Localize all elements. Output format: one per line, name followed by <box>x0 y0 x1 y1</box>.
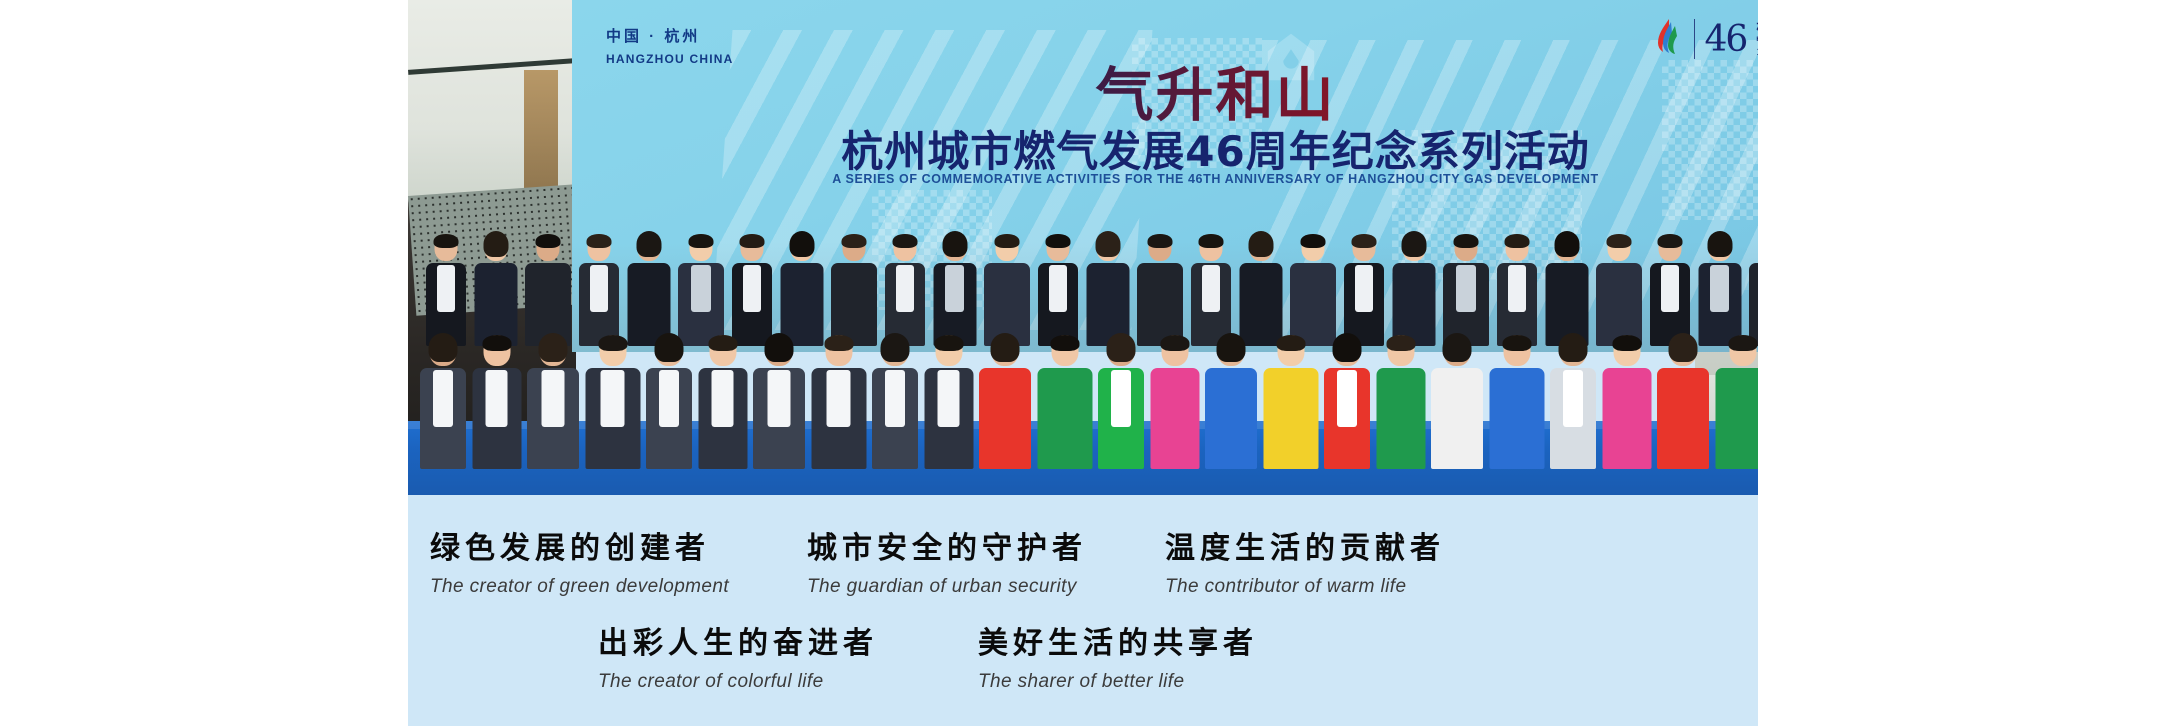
person-hair <box>1046 234 1071 248</box>
person-body <box>1137 263 1183 346</box>
article-image: 中国 · 杭州 HANGZHOU CHINA 46 杭州燃气 HANGZHOU … <box>408 0 1758 726</box>
person <box>1290 234 1336 346</box>
person-shirt <box>743 265 761 312</box>
brand-cn: 杭州燃气 <box>1756 19 1758 37</box>
person-hair <box>1612 335 1641 351</box>
person <box>1489 335 1544 469</box>
person-body <box>933 263 976 346</box>
person <box>1715 335 1758 469</box>
banner-headline: 杭州城市燃气发展46周年纪念系列活动 <box>572 118 1758 179</box>
group-photo: 中国 · 杭州 HANGZHOU CHINA 46 杭州燃气 HANGZHOU … <box>408 0 1758 495</box>
slogan-item: 绿色发展的创建者The creator of green development <box>430 523 729 598</box>
slogan-row-2: 出彩人生的奋进者The creator of colorful life美好生活… <box>598 618 1258 693</box>
person-hair <box>483 231 508 257</box>
person-hair <box>1502 335 1531 351</box>
person-body <box>1698 263 1741 346</box>
person-hair <box>1333 333 1362 362</box>
slogan-row-1: 绿色发展的创建者The creator of green development… <box>430 523 1445 598</box>
person-body <box>420 368 466 469</box>
person-body <box>1239 263 1282 346</box>
person-body <box>924 368 973 469</box>
person-shirt <box>945 265 964 312</box>
person-body <box>979 368 1031 469</box>
person <box>1749 234 1758 346</box>
person-shirt <box>1337 370 1357 427</box>
person <box>1550 335 1596 469</box>
person-hair <box>587 234 612 248</box>
person-shirt <box>542 370 565 427</box>
person <box>732 234 772 346</box>
person-shirt <box>1049 265 1067 312</box>
person-shirt <box>601 370 625 427</box>
person-body <box>646 368 692 469</box>
page-root: 中国 · 杭州 HANGZHOU CHINA 46 杭州燃气 HANGZHOU … <box>0 0 2179 726</box>
slogan-cn: 美好生活的共享者 <box>978 618 1258 662</box>
person-body <box>780 263 823 346</box>
person-hair <box>942 231 967 257</box>
person-shirt <box>938 370 960 427</box>
slogan-en: The contributor of warm life <box>1165 576 1445 598</box>
person-hair <box>995 234 1020 248</box>
person <box>1086 234 1129 346</box>
person-shirt <box>1355 265 1373 312</box>
person-shirt <box>1456 265 1476 312</box>
person-hair <box>1248 231 1273 257</box>
person-body <box>1290 263 1336 346</box>
person-hair <box>1217 333 1246 362</box>
person-hair <box>1658 234 1683 248</box>
person-shirt <box>1508 265 1526 312</box>
person <box>1650 234 1690 346</box>
person-body <box>474 263 517 346</box>
person-shirt <box>1661 265 1679 312</box>
person-body <box>1205 368 1257 469</box>
person-hair <box>536 234 561 248</box>
person-body <box>585 368 640 469</box>
person-hair <box>1276 335 1305 351</box>
person <box>426 234 466 346</box>
person <box>1324 335 1370 469</box>
kicker-cn: 中国 · 杭州 <box>606 26 733 48</box>
slogan-en: The creator of green development <box>430 576 729 598</box>
person-body <box>1324 368 1370 469</box>
person <box>420 335 466 469</box>
person-shirt <box>1563 370 1583 427</box>
crowd-front-row <box>408 332 1758 495</box>
person-body <box>579 263 619 346</box>
person-hair <box>740 234 765 248</box>
slogan-cn: 出彩人生的奋进者 <box>598 618 878 662</box>
person-hair <box>765 333 794 362</box>
person <box>1596 234 1642 346</box>
person-body <box>1037 368 1092 469</box>
slogan-en: The sharer of better life <box>978 671 1258 693</box>
person-hair <box>824 335 853 351</box>
person <box>1191 234 1231 346</box>
person-hair <box>689 234 714 248</box>
person-shirt <box>1202 265 1220 312</box>
person <box>1037 335 1092 469</box>
person-shirt <box>590 265 608 312</box>
person-body <box>1657 368 1709 469</box>
person-hair <box>789 231 814 257</box>
slogan-item: 温度生活的贡献者The contributor of warm life <box>1165 523 1445 598</box>
person-body <box>1749 263 1758 346</box>
person-body <box>1431 368 1483 469</box>
person <box>1263 335 1318 469</box>
person-hair <box>1050 335 1079 351</box>
person-shirt <box>659 370 679 427</box>
person <box>1098 335 1144 469</box>
banner-subheadline: A SERIES OF COMMEMORATIVE ACTIVITIES FOR… <box>572 172 1758 186</box>
person <box>1205 335 1257 469</box>
person-body <box>811 368 866 469</box>
person-body <box>872 368 918 469</box>
person <box>811 335 866 469</box>
person-hair <box>708 335 737 351</box>
person-body <box>678 263 724 346</box>
person-body <box>753 368 805 469</box>
slogan-en: The creator of colorful life <box>598 671 878 693</box>
slogan-cn: 绿色发展的创建者 <box>430 523 729 567</box>
person-shirt <box>691 265 711 312</box>
person <box>933 234 976 346</box>
person <box>872 335 918 469</box>
person-hair <box>934 335 963 351</box>
person-hair <box>1148 234 1173 248</box>
person-hair <box>881 333 910 362</box>
person-body <box>527 368 579 469</box>
slogan-item: 出彩人生的奋进者The creator of colorful life <box>598 618 878 693</box>
person-body <box>1098 368 1144 469</box>
person-hair <box>1095 231 1120 257</box>
slogan-en: The guardian of urban security <box>807 576 1087 598</box>
person <box>474 234 517 346</box>
person-body <box>1715 368 1758 469</box>
person-hair <box>636 231 661 257</box>
person <box>1392 234 1435 346</box>
person-body <box>1263 368 1318 469</box>
person-hair <box>1301 234 1326 248</box>
person-hair <box>1443 333 1472 362</box>
person <box>646 335 692 469</box>
person-shirt <box>433 370 453 427</box>
slogan-item: 美好生活的共享者The sharer of better life <box>978 618 1258 693</box>
person-hair <box>1199 234 1224 248</box>
person-body <box>1489 368 1544 469</box>
person-hair <box>842 234 867 248</box>
person-shirt <box>827 370 851 427</box>
person <box>780 234 823 346</box>
person-hair <box>893 234 918 248</box>
person-hair <box>1669 333 1698 362</box>
person-shirt <box>437 265 455 312</box>
person <box>1150 335 1199 469</box>
slogan-cn: 城市安全的守护者 <box>807 523 1087 567</box>
person-hair <box>1352 234 1377 248</box>
slogan-panel: 绿色发展的创建者The creator of green development… <box>408 495 1758 726</box>
person-hair <box>1454 234 1479 248</box>
person <box>627 234 670 346</box>
person <box>1344 234 1384 346</box>
person-hair <box>1607 234 1632 248</box>
person <box>984 234 1030 346</box>
person <box>1698 234 1741 346</box>
slogan-item: 城市安全的守护者The guardian of urban security <box>807 523 1087 598</box>
person <box>1602 335 1651 469</box>
person-hair <box>482 335 511 351</box>
person <box>1239 234 1282 346</box>
person-body <box>472 368 521 469</box>
person <box>924 335 973 469</box>
person-shirt <box>712 370 734 427</box>
person-hair <box>991 333 1020 362</box>
person-body <box>1596 263 1642 346</box>
person <box>1545 234 1588 346</box>
person-hair <box>539 333 568 362</box>
person-body <box>1392 263 1435 346</box>
person <box>698 335 747 469</box>
person <box>1376 335 1425 469</box>
person-hair <box>429 333 458 362</box>
person-hair <box>1554 231 1579 257</box>
person <box>831 234 877 346</box>
person <box>1443 234 1489 346</box>
person-hair <box>1707 231 1732 257</box>
person-hair <box>655 333 684 362</box>
person <box>1497 234 1537 346</box>
person-hair <box>1559 333 1588 362</box>
person-body <box>1550 368 1596 469</box>
person <box>579 234 619 346</box>
person-hair <box>1160 335 1189 351</box>
person <box>472 335 521 469</box>
slogan-cn: 温度生活的贡献者 <box>1165 523 1445 567</box>
person <box>979 335 1031 469</box>
person <box>1137 234 1183 346</box>
person-body <box>732 263 772 346</box>
person-shirt <box>885 370 905 427</box>
person <box>1657 335 1709 469</box>
person-body <box>1038 263 1078 346</box>
person-body <box>831 263 877 346</box>
person-body <box>698 368 747 469</box>
person-body <box>1497 263 1537 346</box>
person-hair <box>1386 335 1415 351</box>
person <box>753 335 805 469</box>
person-shirt <box>896 265 914 312</box>
person-hair <box>598 335 627 351</box>
person-hair <box>1505 234 1530 248</box>
person <box>525 234 571 346</box>
person-shirt <box>486 370 508 427</box>
person-shirt <box>1111 370 1131 427</box>
brand-en: HANGZHOU GAS <box>1756 36 1758 44</box>
person-hair <box>1107 333 1136 362</box>
person <box>678 234 724 346</box>
person-hair <box>1401 231 1426 257</box>
person-body <box>1602 368 1651 469</box>
person <box>1431 335 1483 469</box>
person <box>527 335 579 469</box>
person-shirt <box>1710 265 1729 312</box>
crowd-group <box>408 268 1758 495</box>
person <box>1038 234 1078 346</box>
person-hair <box>434 234 459 248</box>
person <box>585 335 640 469</box>
person-shirt <box>768 370 791 427</box>
person-hair <box>1728 335 1757 351</box>
person-body <box>1376 368 1425 469</box>
person <box>885 234 925 346</box>
person-body <box>1150 368 1199 469</box>
